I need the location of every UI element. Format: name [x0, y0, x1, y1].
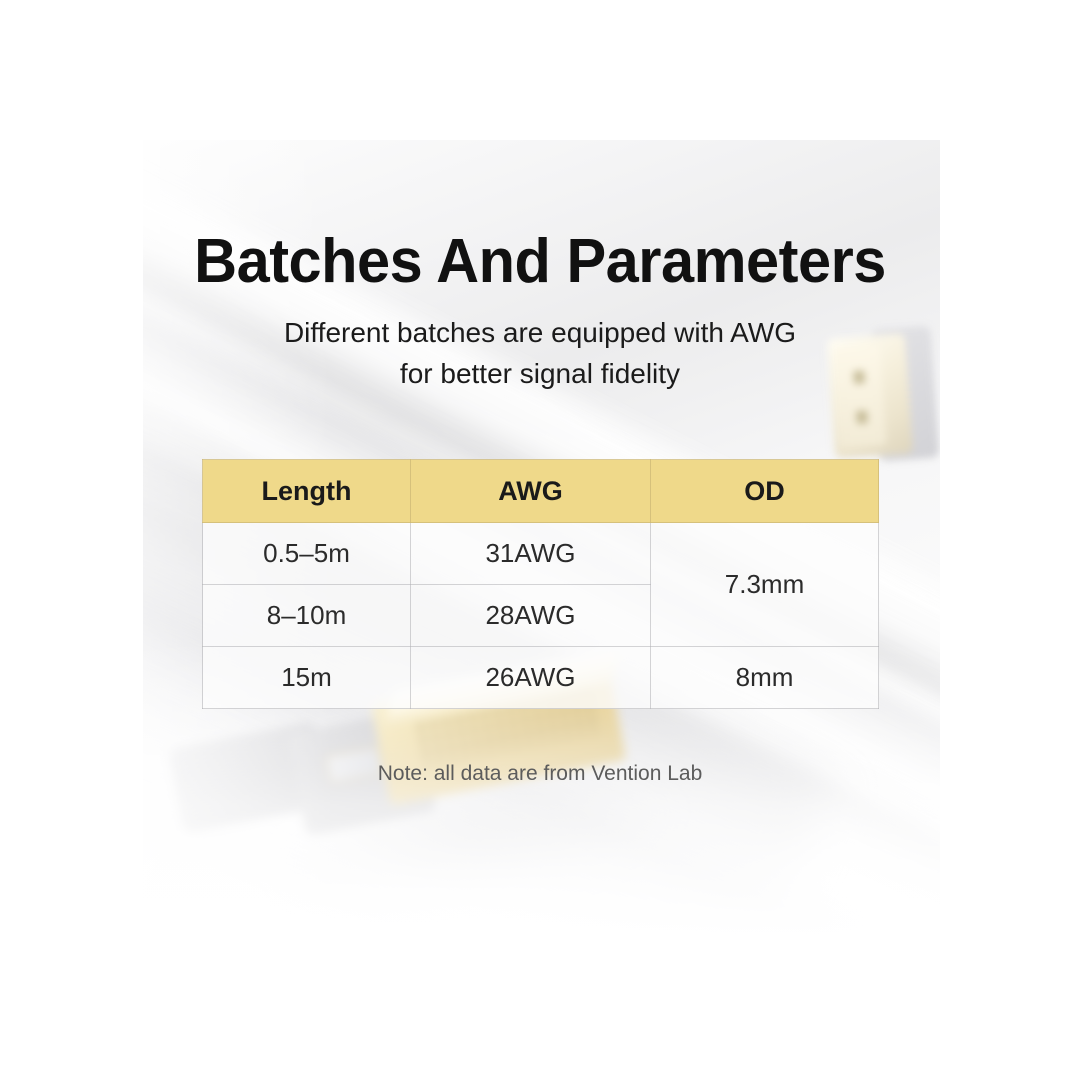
cell-od-merged: 7.3mm — [651, 523, 879, 647]
column-header-od: OD — [651, 460, 879, 523]
column-header-length: Length — [203, 460, 411, 523]
cell-length: 8–10m — [203, 585, 411, 647]
product-spec-card: Batches And Parameters Different batches… — [0, 0, 1080, 1080]
table-row: 0.5–5m 31AWG 7.3mm — [203, 523, 879, 585]
column-header-awg: AWG — [411, 460, 651, 523]
page-subtitle-line-1: Different batches are equipped with AWG — [0, 312, 1080, 353]
cell-awg: 26AWG — [411, 647, 651, 709]
specification-table: Length AWG OD 0.5–5m 31AWG 7.3mm 8–10m 2… — [202, 459, 879, 709]
cream-connector-port-2 — [856, 410, 868, 424]
cell-od: 8mm — [651, 647, 879, 709]
cell-length: 15m — [203, 647, 411, 709]
cell-length: 0.5–5m — [203, 523, 411, 585]
data-source-note: Note: all data are from Vention Lab — [0, 762, 1080, 786]
page-subtitle-line-2: for better signal fidelity — [0, 353, 1080, 394]
cell-awg: 28AWG — [411, 585, 651, 647]
table-header-row: Length AWG OD — [203, 460, 879, 523]
table-header: Length AWG OD — [203, 460, 879, 523]
page-subtitle: Different batches are equipped with AWG … — [0, 312, 1080, 394]
table-body: 0.5–5m 31AWG 7.3mm 8–10m 28AWG 15m 26AWG… — [203, 523, 879, 709]
table-row: 15m 26AWG 8mm — [203, 647, 879, 709]
cell-awg: 31AWG — [411, 523, 651, 585]
page-title: Batches And Parameters — [22, 226, 1059, 297]
